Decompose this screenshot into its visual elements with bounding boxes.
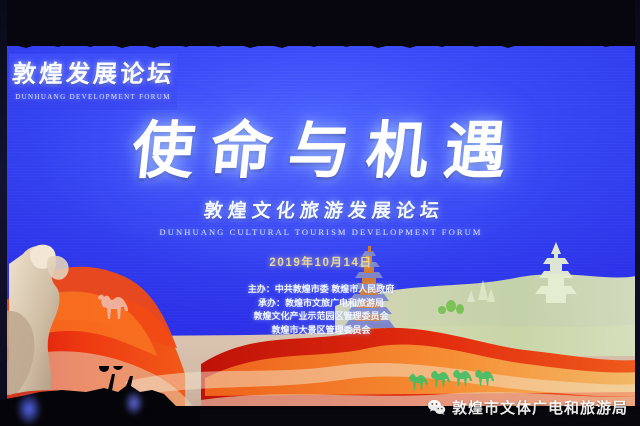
forum-logo-english: DUNHUANG DEVELOPMENT FORUM: [15, 93, 171, 101]
led-screen-panel: 使命与机遇 敦煌文化旅游发展论坛 DUNHUANG CULTURAL TOURI…: [5, 44, 637, 426]
wechat-watermark: 敦煌市文体广电和旅游局: [427, 397, 628, 418]
room-left-wall: [0, 0, 7, 426]
pagoda-right: [535, 242, 577, 303]
screenshot-root: 使命与机遇 敦煌文化旅游发展论坛 DUNHUANG CULTURAL TOURI…: [0, 0, 640, 426]
forum-logo: 敦煌发展论坛 DUNHUANG DEVELOPMENT FORUM: [9, 54, 177, 110]
forum-logo-chinese: 敦煌发展论坛: [11, 63, 175, 88]
wechat-account-name: 敦煌市文体广电和旅游局: [452, 397, 628, 418]
wechat-icon: [427, 398, 446, 417]
dark-ceiling-band: [0, 0, 640, 46]
stage-blue-light-secondary: [124, 390, 144, 416]
stage-blue-light: [16, 392, 42, 426]
room-right-wall: [635, 0, 640, 426]
